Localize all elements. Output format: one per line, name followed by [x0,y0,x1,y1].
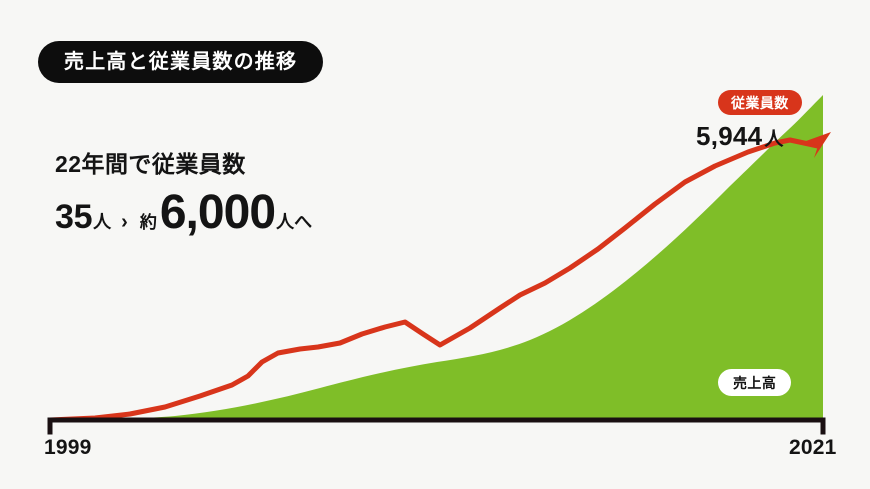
chart-title-pill: 売上高と従業員数の推移 [38,41,323,83]
employees-latest-number: 5,944 [696,121,762,151]
callout-to-value: 6,000 [160,189,275,237]
callout-growth-statement: 35 人 › 約 6,000 人 へ [55,189,385,237]
callout-from-unit: 人 [93,213,111,231]
employees-latest-value: 5,944人 [696,123,784,149]
callout-approx-label: 約 [140,214,157,231]
legend-badge-sales: 売上高 [718,369,791,396]
axis-label-start-year: 1999 [44,437,92,458]
callout-to-unit: 人 [276,213,294,231]
chart-title-text: 売上高と従業員数の推移 [64,52,297,72]
legend-badge-employees-label: 従業員数 [731,96,789,110]
callout-heading: 22年間で従業員数 [55,152,385,177]
chevron-right-icon: › [121,212,128,232]
axis-label-end-year: 2021 [789,437,837,458]
callout-from-value: 35 [55,200,92,234]
employees-latest-unit: 人 [764,129,783,150]
x-axis-baseline [50,420,823,432]
legend-badge-employees: 従業員数 [718,90,802,115]
callout-to-suffix: へ [294,213,312,231]
callout-block: 22年間で従業員数 35 人 › 約 6,000 人 へ [55,152,385,237]
infographic-canvas: 売上高と従業員数の推移 22年間で従業員数 35 人 › 約 6,000 人 へ… [0,0,870,489]
legend-badge-sales-label: 売上高 [733,376,776,390]
